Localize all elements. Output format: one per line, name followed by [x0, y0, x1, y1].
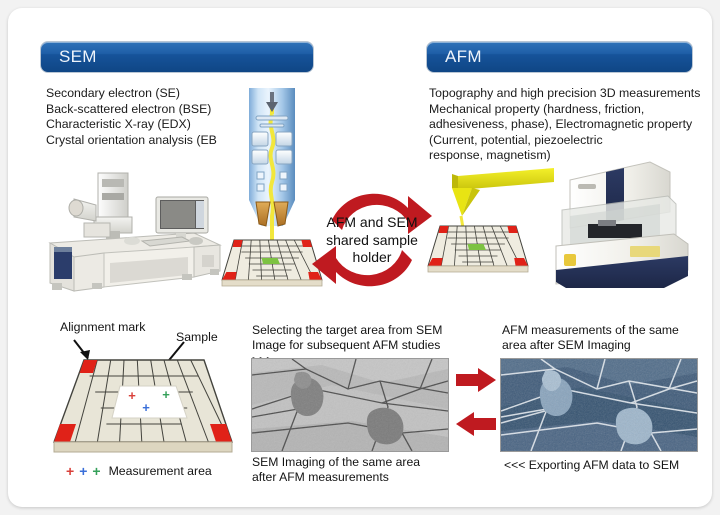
afm-header-caption: AFM measurements of the same area after …: [502, 323, 702, 353]
sem-instrument-photo: [44, 171, 224, 296]
data-exchange-arrows: [454, 366, 498, 442]
svg-text:+: +: [162, 387, 170, 402]
afm-micrograph-image: [500, 358, 698, 452]
svg-text:+: +: [142, 400, 150, 415]
afm-section-badge: AFM: [426, 41, 693, 73]
legend-mark-blue: +: [79, 463, 87, 479]
svg-text:+: +: [128, 388, 136, 403]
sem-section-badge: SEM: [40, 41, 314, 73]
arrow-right-icon: [456, 368, 496, 392]
sem-image-caption: SEM Imaging of the same area after AFM m…: [252, 455, 462, 485]
sample-holder-detail: + + +: [44, 338, 244, 460]
afm-instrument-photo: [548, 150, 698, 290]
alignment-mark-label: Alignment mark: [60, 320, 145, 334]
sem-micrograph-image: [251, 358, 449, 452]
legend-mark-red: +: [66, 463, 74, 479]
diagram-card: SEM Secondary electron (SE) Back-scatter…: [8, 8, 712, 507]
afm-to-sem-caption: <<< Exporting AFM data to SEM: [504, 458, 712, 473]
sample-holder-afm: [426, 220, 530, 278]
arrow-left-icon: [456, 412, 496, 436]
sem-column-schematic: [226, 86, 318, 291]
shared-sample-holder-cycle: AFM and SEM shared sample holder: [308, 186, 436, 294]
measurement-area-legend: + + + Measurement area: [66, 463, 212, 479]
afm-badge-label: AFM: [427, 47, 482, 67]
legend-label: Measurement area: [109, 464, 212, 478]
legend-mark-green: +: [92, 463, 100, 479]
cycle-label: AFM and SEM shared sample holder: [308, 214, 436, 267]
sem-badge-label: SEM: [41, 47, 97, 67]
